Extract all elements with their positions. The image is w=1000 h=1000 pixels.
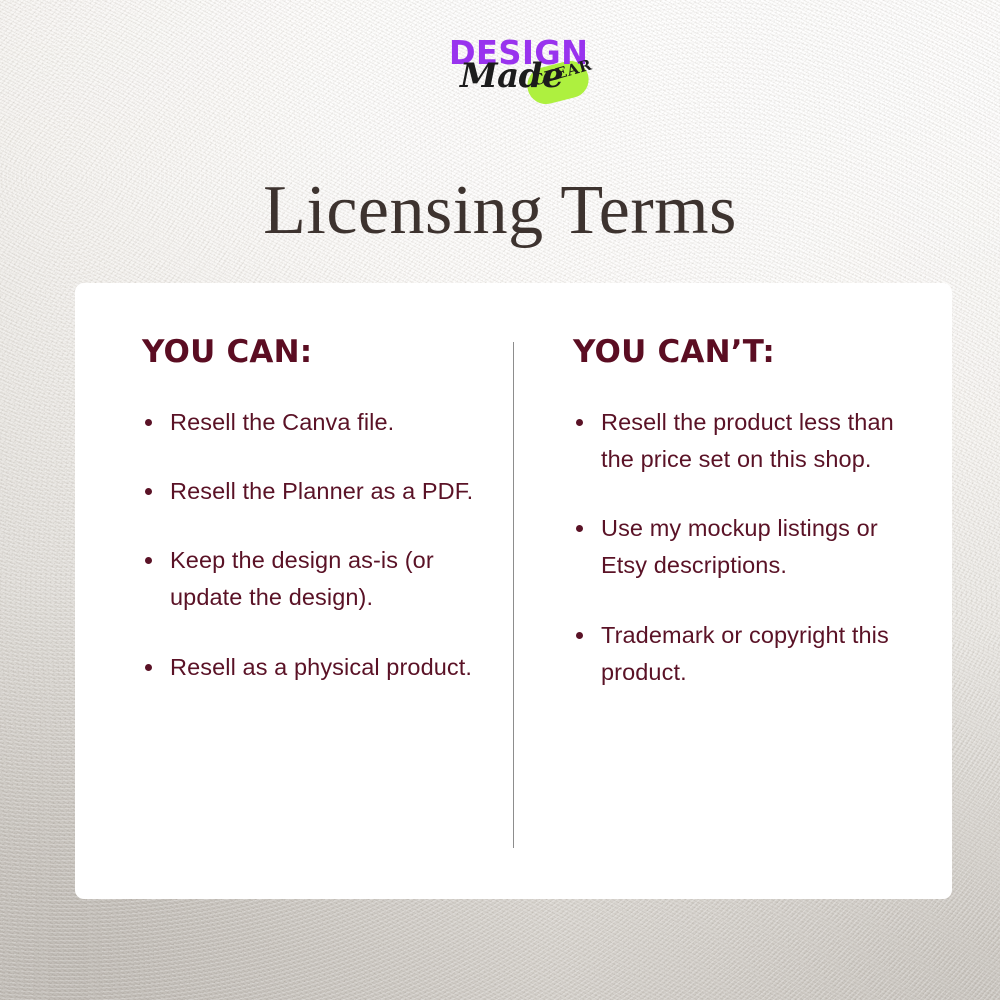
bullet-dot-icon bbox=[576, 525, 583, 532]
page-title: Licensing Terms bbox=[0, 176, 1000, 246]
column-heading-you-cant: YOU CAN’T: bbox=[573, 337, 912, 368]
list-item-text: Resell as a physical product. bbox=[170, 654, 472, 680]
column-you-can: YOU CAN: Resell the Canva file. Resell t… bbox=[75, 283, 513, 899]
bullet-dot-icon bbox=[576, 419, 583, 426]
bullet-list-you-can: Resell the Canva file. Resell the Planne… bbox=[142, 404, 479, 686]
list-item-text: Keep the design as-is (or update the des… bbox=[170, 547, 434, 610]
list-item: Resell the Canva file. bbox=[142, 404, 479, 441]
brand-logo: DESIGN Made CLEAR bbox=[431, 36, 591, 106]
list-item-text: Trademark or copyright this product. bbox=[601, 622, 889, 685]
terms-card: YOU CAN: Resell the Canva file. Resell t… bbox=[75, 283, 952, 899]
list-item-text: Resell the Canva file. bbox=[170, 409, 394, 435]
bullet-list-you-cant: Resell the product less than the price s… bbox=[573, 404, 912, 691]
list-item: Use my mockup listings or Etsy descripti… bbox=[573, 510, 912, 584]
bullet-dot-icon bbox=[145, 488, 152, 495]
bullet-dot-icon bbox=[145, 664, 152, 671]
bullet-dot-icon bbox=[145, 419, 152, 426]
slide-canvas: DESIGN Made CLEAR Licensing Terms YOU CA… bbox=[0, 0, 1000, 1000]
list-item-text: Use my mockup listings or Etsy descripti… bbox=[601, 515, 878, 578]
list-item: Resell as a physical product. bbox=[142, 649, 479, 686]
column-heading-you-can: YOU CAN: bbox=[142, 337, 479, 368]
list-item: Resell the Planner as a PDF. bbox=[142, 473, 479, 510]
list-item-text: Resell the Planner as a PDF. bbox=[170, 478, 473, 504]
bullet-dot-icon bbox=[576, 632, 583, 639]
column-divider bbox=[513, 342, 514, 848]
list-item: Trademark or copyright this product. bbox=[573, 617, 912, 691]
list-item-text: Resell the product less than the price s… bbox=[601, 409, 894, 472]
column-you-cant: YOU CAN’T: Resell the product less than … bbox=[513, 283, 952, 899]
list-item: Resell the product less than the price s… bbox=[573, 404, 912, 478]
list-item: Keep the design as-is (or update the des… bbox=[142, 542, 479, 616]
bullet-dot-icon bbox=[145, 557, 152, 564]
